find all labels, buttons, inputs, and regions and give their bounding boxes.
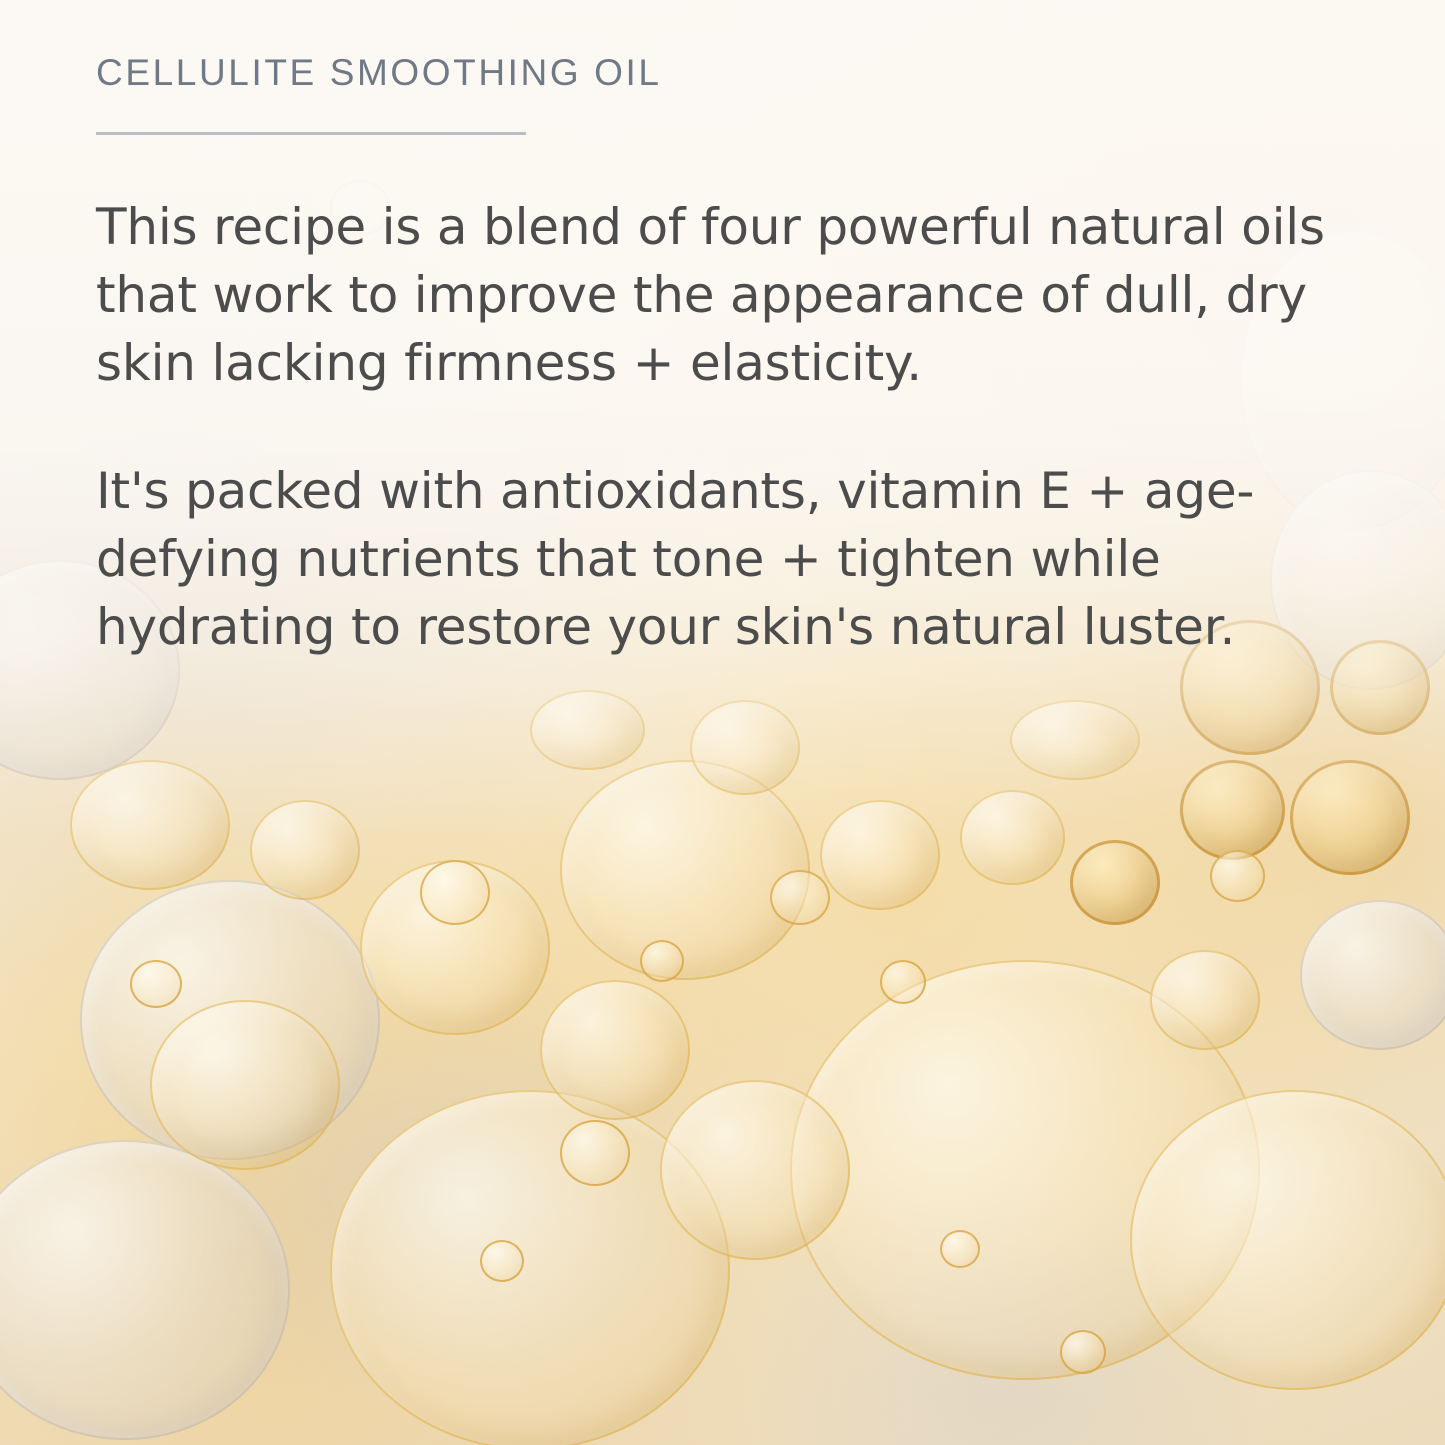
- text-block: CELLULITE SMOOTHING OIL This recipe is a…: [96, 52, 1351, 711]
- bubble-shape: [1210, 850, 1265, 902]
- product-title: CELLULITE SMOOTHING OIL: [96, 52, 1351, 94]
- description-paragraph-2: It's packed with antioxidants, vitamin E…: [96, 457, 1341, 661]
- bubble-shape: [880, 960, 926, 1004]
- bubble-shape: [1060, 1330, 1106, 1374]
- bubble-shape: [1070, 840, 1160, 925]
- bubble-shape: [480, 1240, 524, 1282]
- bubble-shape: [640, 940, 684, 982]
- bubble-shape: [820, 800, 940, 910]
- bubble-shape: [540, 980, 690, 1120]
- bubble-shape: [1010, 700, 1140, 780]
- bubble-shape: [1180, 760, 1285, 860]
- bubble-shape: [940, 1230, 980, 1268]
- bubble-shape: [420, 860, 490, 925]
- bubble-shape: [770, 870, 830, 925]
- bubble-shape: [250, 800, 360, 900]
- bubble-shape: [660, 1080, 850, 1260]
- title-divider: [96, 132, 526, 135]
- bubble-shape: [1290, 760, 1410, 875]
- product-info-card: CELLULITE SMOOTHING OIL This recipe is a…: [0, 0, 1445, 1445]
- bubble-shape: [1130, 1090, 1445, 1390]
- description-paragraph-1: This recipe is a blend of four powerful …: [96, 193, 1341, 397]
- bubble-shape: [70, 760, 230, 890]
- bubble-shape: [130, 960, 182, 1008]
- bubble-shape: [690, 700, 800, 795]
- bubble-shape: [1150, 950, 1260, 1050]
- bubble-shape: [150, 1000, 340, 1170]
- bubble-shape: [560, 760, 810, 980]
- bubble-shape: [560, 1120, 630, 1186]
- bubble-shape: [960, 790, 1065, 885]
